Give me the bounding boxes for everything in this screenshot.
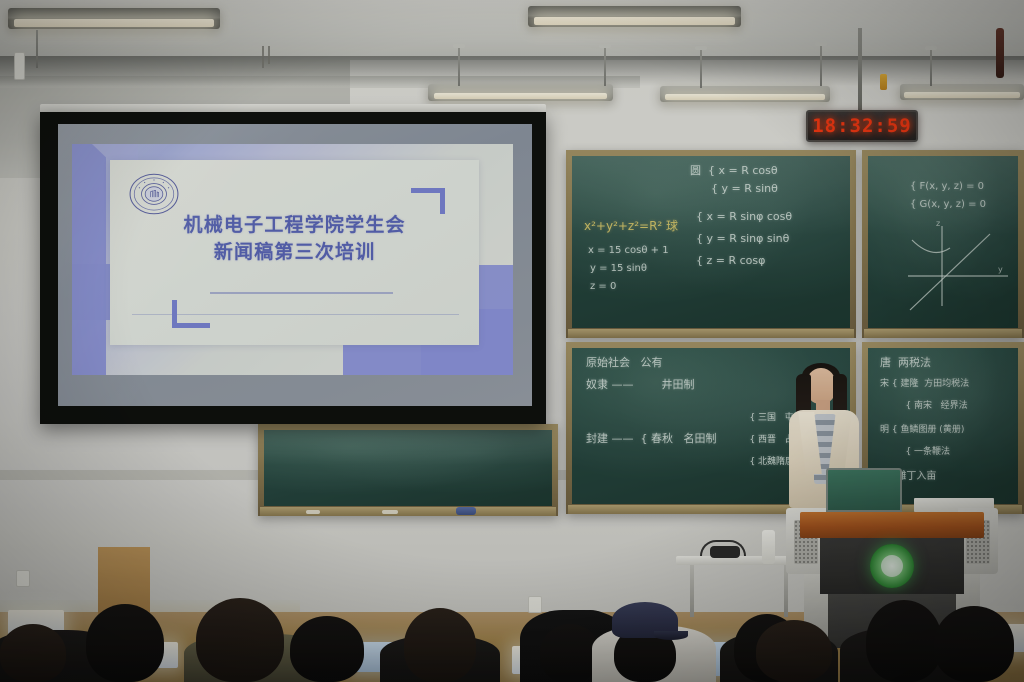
slide-corner-bracket-top-right [411,188,445,214]
chalk-haze [264,430,552,465]
suspended-light-fixture [428,84,613,101]
light-suspension-rod [604,46,606,86]
student-audience: Reststrength [0,560,1024,682]
student-head [756,620,832,682]
chalk-text-single-whip: { 一条鞭法 [894,446,950,458]
slide-corner-bracket-bottom-left [172,300,210,328]
student-head [404,608,476,682]
slide-title-underline [210,292,393,294]
blackboard-surface [264,430,552,506]
chalk-tray [260,507,556,516]
light-suspension-rod [36,30,38,68]
suspended-light-fixture [660,86,830,102]
chalk-text-param-x: x = 15 cosθ + 1 [588,244,669,258]
chalk-text-sphere-eq: x²+y²+z²=R² 球 [584,218,678,234]
university-seal-icon [128,172,180,216]
chalk-text-param-z: z = 0 [590,280,616,294]
chalk-text-feudal-society: 封建 —— { 春秋 名田制 [586,432,716,447]
light-suspension-rod [820,44,822,86]
student-head [540,624,600,682]
chalk-text-ming: 明 { 鱼鳞图册 (黄册) [880,424,964,436]
slide-title-group: 机械电子工程学院学生会 新闻稿第三次培训 [110,212,479,267]
projection-screen: 机械电子工程学院学生会 新闻稿第三次培训 [40,112,546,424]
projected-slide: 机械电子工程学院学生会 新闻稿第三次培训 [72,144,513,375]
student-head [290,616,364,682]
blackboard-eraser[interactable] [456,507,476,515]
suspended-light-fixture [900,84,1024,100]
water-bottle[interactable] [762,530,775,564]
lectern-laptop[interactable] [826,468,902,512]
ceiling-wire [262,46,264,68]
chalk-3d-axes-diagram: z y [898,218,1014,314]
chalk-tray [568,329,854,338]
ceiling-shadow [0,56,1024,86]
blackboard-top-middle: 圆 { x = R cosθ { y = R sinθ x²+y²+z²=R² … [566,150,856,338]
chalk-text-implicit-g: { G(x, y, z) = 0 [910,198,986,212]
chalk-text-southern-song: { 南宋 经界法 [894,400,968,412]
rod-ceiling-cap [599,44,611,48]
lecture-hall-scene: 18:32:59 圆 { x = R cosθ { y = R sinθ x²+… [0,0,1024,682]
chalk-text-polar-circle-2: { y = R sinθ [690,182,778,197]
ceiling-wire [268,46,270,64]
student-head [86,604,164,682]
chalk-tray [864,329,1022,338]
chalk-text-primitive-society: 原始社会 公有 [586,356,663,371]
light-suspension-rod [458,46,460,86]
screen-surface: 机械电子工程学院学生会 新闻稿第三次培训 [58,124,532,406]
blackboard-surface: { F(x, y, z) = 0 { G(x, y, z) = 0 z y [868,156,1018,328]
clock-time-display: 18:32:59 [812,115,912,137]
wall-sensor [14,52,25,80]
cap-brim [654,631,688,640]
led-wall-clock: 18:32:59 [806,110,918,142]
rod-ceiling-cap [453,44,465,48]
chalk-text-song: 宋 { 建隆 方田均税法 [880,378,969,390]
student-head [196,598,284,682]
ceiling-light-fixture [528,6,741,27]
student-head [0,624,66,682]
slide-title-line-2: 新闻稿第三次培训 [110,239,479,267]
chalk-text-slave-society: 奴隶 —— 井田制 [586,378,694,393]
chalk-text-spherical-x: { x = R sinφ cosθ [696,210,792,225]
lectern-desktop [800,512,984,538]
clock-mounting-pole [858,28,862,112]
ceiling-light-fixture [8,8,220,29]
cable-tag [880,74,887,90]
rod-ceiling-cap [695,46,707,50]
chalk-text-tang: 唐 两税法 [880,356,931,371]
chalk-text-spherical-y: { y = R sinφ sinθ [696,232,789,247]
chalk-text-implicit-f: { F(x, y, z) = 0 [910,180,984,194]
chalk-text-polar-circle: 圆 { x = R cosθ [690,164,778,179]
blackboard-left-erased [258,424,558,516]
light-suspension-rod [700,48,702,88]
svg-text:z: z [936,219,940,228]
blackboard-top-right: { F(x, y, z) = 0 { G(x, y, z) = 0 z y [862,150,1024,338]
chalk-piece[interactable] [382,510,398,514]
blackboard-surface: 圆 { x = R cosθ { y = R sinθ x²+y²+z²=R² … [572,156,850,328]
chalk-piece[interactable] [306,510,320,514]
chalk-text-spherical-z: { z = R cosφ [696,254,765,269]
cable-adapter[interactable] [710,546,740,558]
chalk-text-param-y: y = 15 sinθ [590,262,647,276]
svg-text:y: y [998,265,1003,274]
rod-ceiling-cap [925,46,937,50]
hanging-strap [996,28,1004,78]
slide-content-card: 机械电子工程学院学生会 新闻稿第三次培训 [110,160,479,345]
student-head [934,606,1014,682]
student-head [866,600,942,682]
light-suspension-rod [930,48,932,86]
rod-ceiling-cap [815,42,827,46]
slide-title-line-1: 机械电子工程学院学生会 [110,212,479,240]
